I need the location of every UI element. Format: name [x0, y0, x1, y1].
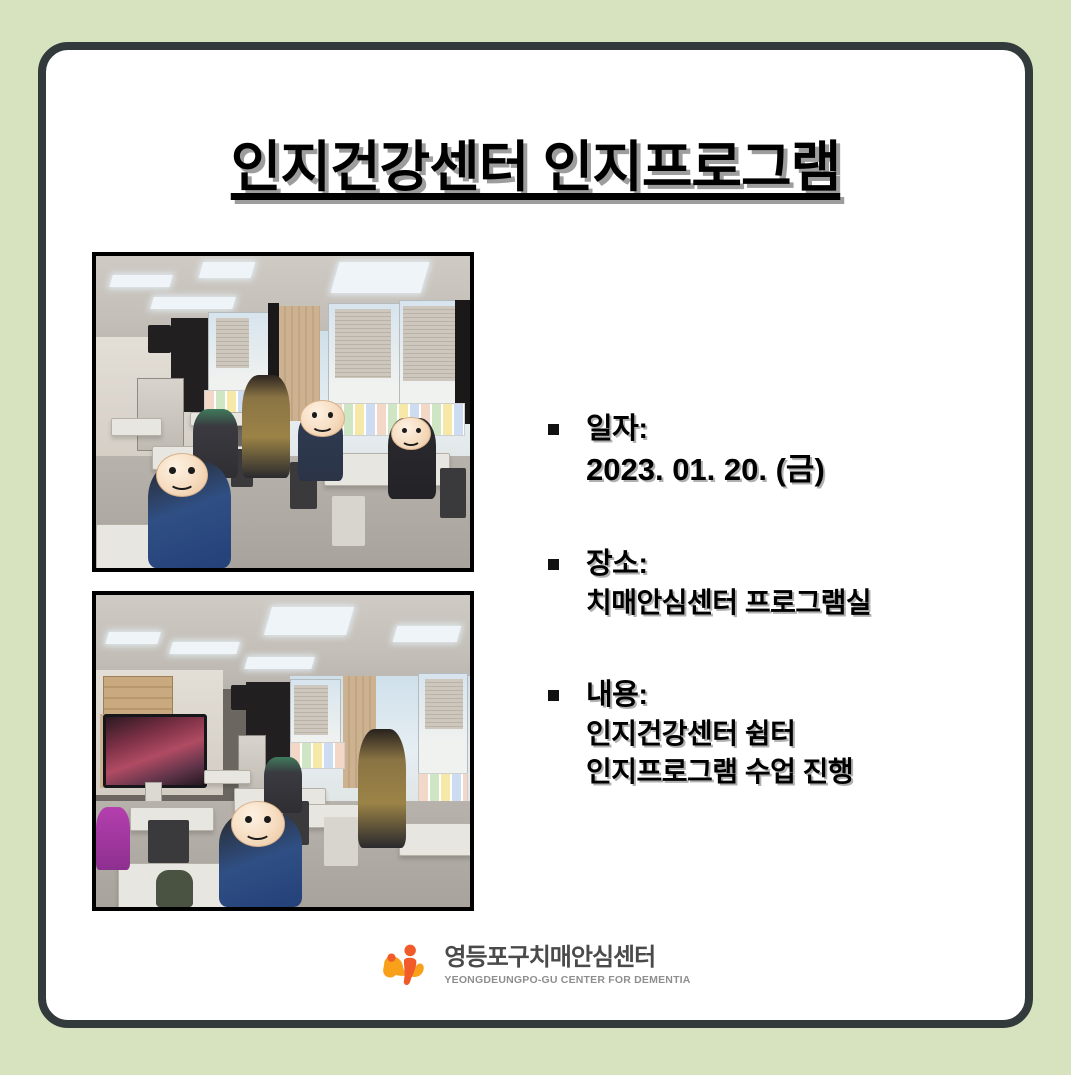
chair: [148, 820, 189, 864]
staff-person: [358, 729, 407, 848]
staff-person: [242, 375, 291, 478]
bullet-square-icon: [548, 424, 559, 435]
table: [204, 770, 251, 784]
chair: [332, 496, 366, 546]
building-exterior: [335, 309, 391, 378]
bookshelf: [103, 676, 172, 715]
storage-cabinet: [137, 378, 184, 452]
ceiling-light-icon: [105, 632, 161, 644]
building-exterior: [403, 306, 455, 381]
info-value-date: 2023. 01. 20. (금): [586, 449, 1016, 491]
display-screen: [103, 714, 206, 789]
ceiling-light-icon: [264, 607, 354, 635]
chair: [440, 468, 466, 518]
table: [399, 823, 470, 856]
ceiling-light-icon: [109, 275, 172, 287]
ceiling-light-icon: [198, 262, 255, 278]
smiley-mouth-icon: [401, 433, 420, 446]
privacy-smiley-mask: [391, 417, 430, 450]
ceiling-light-icon: [393, 626, 461, 642]
info-list: 일자: 2023. 01. 20. (금) 장소: 치매안심센터 프로그램실 내…: [546, 410, 1016, 791]
bullet-square-icon: [548, 690, 559, 701]
privacy-smiley-mask: [231, 801, 285, 847]
privacy-smiley-mask: [300, 400, 345, 438]
chair: [324, 817, 358, 867]
speaker-icon: [231, 685, 250, 710]
info-label-content: 내용:: [586, 676, 1016, 715]
building-exterior: [216, 318, 250, 368]
participant-person: [96, 807, 130, 869]
info-value-content: 인지건강센터 쉼터 인지프로그램 수업 진행: [586, 715, 1016, 791]
logo-title-english: YEONGDEUNGPO-GU CENTER FOR DEMENTIA: [444, 975, 690, 986]
ceiling-light-icon: [244, 657, 315, 669]
smiley-mouth-icon: [169, 474, 195, 491]
classroom-photo-bottom: [92, 591, 474, 911]
privacy-smiley-mask: [156, 453, 208, 497]
footer-logo: 영등포구치매안심센터 YEONGDEUNGPO-GU CENTER FOR DE…: [46, 940, 1025, 992]
bullet-square-icon: [548, 559, 559, 570]
artwork-strip: [418, 773, 469, 803]
ceiling-light-icon: [169, 642, 240, 654]
building-exterior: [425, 679, 462, 729]
smiley-mouth-icon: [311, 418, 333, 433]
ceiling-light-icon: [150, 297, 236, 309]
ceiling-light-icon: [331, 262, 430, 293]
info-value-location: 치매안심센터 프로그램실: [586, 584, 1016, 622]
smiley-mouth-icon: [244, 823, 271, 840]
participant-person: [156, 870, 193, 907]
logo-small-head-circle: [388, 954, 396, 962]
poster-card: 인지건강센터 인지프로그램: [38, 42, 1033, 1028]
yeongdeungpo-dementia-center-logo-icon: [380, 940, 432, 992]
info-label-date: 일자:: [586, 410, 1016, 449]
table: [111, 418, 162, 436]
speaker-icon: [148, 325, 170, 353]
info-label-location: 장소:: [586, 545, 1016, 584]
info-item-location: 장소: 치매안심센터 프로그램실: [546, 545, 1016, 622]
logo-head-circle: [405, 945, 416, 956]
logo-title-korean: 영등포구치매안심센터: [444, 946, 690, 970]
classroom-photo-top: [92, 252, 474, 572]
page-title: 인지건강센터 인지프로그램: [46, 122, 1025, 202]
info-item-date: 일자: 2023. 01. 20. (금): [546, 410, 1016, 491]
info-item-content: 내용: 인지건강센터 쉼터 인지프로그램 수업 진행: [546, 676, 1016, 791]
logo-text: 영등포구치매안심센터 YEONGDEUNGPO-GU CENTER FOR DE…: [444, 946, 690, 986]
building-exterior: [294, 685, 328, 735]
